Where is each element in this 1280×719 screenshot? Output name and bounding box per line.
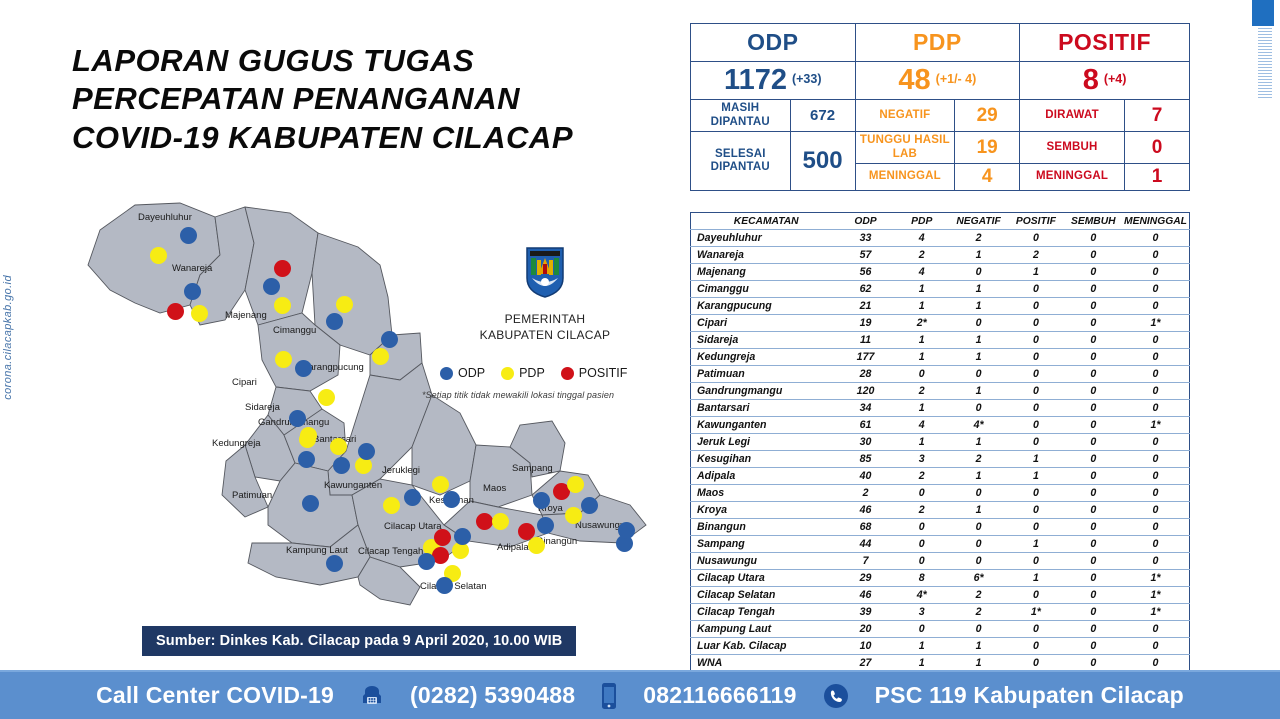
district-table-row: Binangun6800000 <box>691 519 1190 536</box>
summary-value-positif-sembuh: 0 <box>1124 132 1189 164</box>
mobile-phone-icon <box>601 682 617 710</box>
district-value-cell: 0 <box>1065 332 1122 349</box>
district-value-cell: 1* <box>1122 570 1190 587</box>
map-dot-odp <box>443 491 460 508</box>
map-dot-pdp <box>330 438 347 455</box>
district-value-cell: 0 <box>1065 247 1122 264</box>
district-name-cell: Majenang <box>691 264 838 281</box>
map-dot-pdp <box>299 431 316 448</box>
map-dot-odp <box>333 457 350 474</box>
district-value-cell: 0 <box>1122 281 1190 298</box>
legend-item-positif: POSITIF <box>561 366 628 380</box>
district-name-cell: Wanareja <box>691 247 838 264</box>
district-value-cell: 0 <box>1122 298 1190 315</box>
district-value-cell: 4 <box>894 230 950 247</box>
map-dot-odp <box>454 528 471 545</box>
legend-item-pdp: PDP <box>501 366 545 380</box>
district-value-cell: 1* <box>1122 417 1190 434</box>
map-dot-pos <box>274 260 291 277</box>
district-value-cell: 1 <box>894 281 950 298</box>
legend-label: POSITIF <box>579 366 628 380</box>
map-dot-odp <box>302 495 319 512</box>
district-name-cell: Jeruk Legi <box>691 434 838 451</box>
map-dot-pdp <box>372 348 389 365</box>
map-legend: ODPPDPPOSITIF <box>440 366 650 380</box>
district-value-cell: 0 <box>1007 485 1064 502</box>
map-label-kedungreja: Kedungreja <box>212 438 261 449</box>
district-value-cell: 27 <box>837 655 893 672</box>
map-dot-pdp <box>274 297 291 314</box>
district-value-cell: 2 <box>1007 247 1064 264</box>
site-watermark: corona.cilacapkab.go.id <box>2 275 14 400</box>
summary-label-pdp-negatif: NEGATIF <box>855 100 955 132</box>
district-name-cell: Sidareja <box>691 332 838 349</box>
district-name-cell: Kedungreja <box>691 349 838 366</box>
summary-total-positif-cell: 8(+4) <box>1020 62 1190 100</box>
map-dot-pdp <box>528 537 545 554</box>
district-value-cell: 0 <box>894 485 950 502</box>
district-value-cell: 0 <box>1065 383 1122 400</box>
district-value-cell: 1 <box>950 434 1007 451</box>
summary-delta-pdp: (+1/- 4) <box>936 72 977 86</box>
district-name-cell: Karangpucung <box>691 298 838 315</box>
district-value-cell: 3 <box>894 451 950 468</box>
district-value-cell: 1 <box>950 655 1007 672</box>
district-value-cell: 1* <box>1007 604 1064 621</box>
map-label-kampung-laut: Kampung Laut <box>286 545 348 556</box>
district-value-cell: 0 <box>1065 536 1122 553</box>
district-value-cell: 2 <box>894 468 950 485</box>
map-label-cilacap-utara: Cilacap Utara <box>384 521 442 532</box>
district-value-cell: 0 <box>1065 519 1122 536</box>
map-label-majenang: Majenang <box>225 310 267 321</box>
district-value-cell: 0 <box>1065 468 1122 485</box>
district-value-cell: 0 <box>1007 298 1064 315</box>
district-name-cell: Cilacap Tengah <box>691 604 838 621</box>
infographic-page: corona.cilacapkab.go.id LAPORAN GUGUS TU… <box>0 0 1280 719</box>
district-name-cell: Luar Kab. Cilacap <box>691 638 838 655</box>
district-value-cell: 0 <box>1122 264 1190 281</box>
district-value-cell: 0 <box>1007 349 1064 366</box>
district-value-cell: 0 <box>950 485 1007 502</box>
map-label-maos: Maos <box>483 483 506 494</box>
district-name-cell: Adipala <box>691 468 838 485</box>
district-col-header-negatif: NEGATIF <box>950 213 1007 230</box>
district-value-cell: 46 <box>837 502 893 519</box>
district-table-row: Kroya4621000 <box>691 502 1190 519</box>
district-value-cell: 0 <box>894 536 950 553</box>
map-dot-odp <box>581 497 598 514</box>
summary-header-odp: ODP <box>691 24 856 62</box>
map-dot-pdp <box>336 296 353 313</box>
map-dot-odp <box>263 278 280 295</box>
district-table-row: Sampang4400100 <box>691 536 1190 553</box>
summary-header-positif: POSITIF <box>1020 24 1190 62</box>
district-value-cell: 0 <box>1065 400 1122 417</box>
map-dot-odp <box>295 360 312 377</box>
district-value-cell: 0 <box>1065 621 1122 638</box>
district-value-cell: 0 <box>1122 366 1190 383</box>
district-value-cell: 0 <box>1007 230 1064 247</box>
map-label-kawunganten: Kawunganten <box>324 480 382 491</box>
summary-value-positif-meninggal: 1 <box>1124 164 1189 191</box>
district-value-cell: 85 <box>837 451 893 468</box>
district-value-cell: 0 <box>1065 349 1122 366</box>
district-table-row: Adipala4021100 <box>691 468 1190 485</box>
map-dot-pdp <box>567 476 584 493</box>
district-value-cell: 0 <box>1007 332 1064 349</box>
district-value-cell: 0 <box>1065 298 1122 315</box>
district-value-cell: 120 <box>837 383 893 400</box>
district-value-cell: 0 <box>1122 400 1190 417</box>
page-title-line-1: LAPORAN GUGUS TUGAS <box>72 42 692 80</box>
summary-value-pdp-tunggu: 19 <box>955 132 1020 164</box>
district-table: KECAMATANODPPDPNEGATIFPOSITIFSEMBUHMENIN… <box>690 212 1190 689</box>
legend-item-odp: ODP <box>440 366 485 380</box>
district-table-row: Kedungreja17711000 <box>691 349 1190 366</box>
summary-table: ODP PDP POSITIF 1172(+33) 48(+1/- 4) 8(+… <box>690 23 1190 191</box>
summary-total-odp-cell: 1172(+33) <box>691 62 856 100</box>
district-value-cell: 0 <box>950 264 1007 281</box>
district-value-cell: 20 <box>837 621 893 638</box>
district-table-body: Dayeuhluhur3342000Wanareja5721200Majenan… <box>691 230 1190 689</box>
district-name-cell: Patimuan <box>691 366 838 383</box>
source-bar: Sumber: Dinkes Kab. Cilacap pada 9 April… <box>142 626 576 656</box>
district-name-cell: Kawunganten <box>691 417 838 434</box>
summary-total-pdp-cell: 48(+1/- 4) <box>855 62 1020 100</box>
district-name-cell: Cilacap Utara <box>691 570 838 587</box>
district-value-cell: 0 <box>1122 536 1190 553</box>
summary-value-odp-masih: 672 <box>790 100 855 132</box>
district-value-cell: 0 <box>894 366 950 383</box>
district-value-cell: 56 <box>837 264 893 281</box>
district-table-row: Kawunganten6144*001* <box>691 417 1190 434</box>
map-dot-odp <box>436 577 453 594</box>
district-value-cell: 33 <box>837 230 893 247</box>
district-value-cell: 0 <box>1007 383 1064 400</box>
district-value-cell: 0 <box>1007 366 1064 383</box>
map-dot-odp <box>326 313 343 330</box>
map-dot-pdp <box>383 497 400 514</box>
district-value-cell: 0 <box>1122 383 1190 400</box>
summary-label-odp-masih: MASIH DIPANTAU <box>691 100 791 132</box>
district-value-cell: 0 <box>950 366 1007 383</box>
government-line-1: PEMERINTAH <box>455 311 635 327</box>
summary-total-row: 1172(+33) 48(+1/- 4) 8(+4) <box>691 62 1190 100</box>
district-name-cell: Cilacap Selatan <box>691 587 838 604</box>
government-name: PEMERINTAH KABUPATEN CILACAP <box>455 311 635 343</box>
legend-dot-icon <box>501 367 514 380</box>
district-value-cell: 10 <box>837 638 893 655</box>
district-value-cell: 1* <box>1122 587 1190 604</box>
map-dot-odp <box>298 451 315 468</box>
corner-tab-decoration <box>1252 0 1274 26</box>
district-value-cell: 2 <box>894 247 950 264</box>
summary-value-odp-selesai: 500 <box>790 132 855 191</box>
landline-number[interactable]: (0282) 5390488 <box>410 682 575 709</box>
district-value-cell: 0 <box>1065 655 1122 672</box>
district-value-cell: 2 <box>894 502 950 519</box>
district-value-cell: 0 <box>1122 519 1190 536</box>
district-name-cell: Maos <box>691 485 838 502</box>
district-value-cell: 2 <box>950 451 1007 468</box>
district-value-cell: 0 <box>950 621 1007 638</box>
summary-detail-row-2: SELESAI DIPANTAU 500 TUNGGU HASIL LAB 19… <box>691 132 1190 164</box>
district-table-row: Maos200000 <box>691 485 1190 502</box>
district-value-cell: 0 <box>1122 247 1190 264</box>
map-dot-odp <box>533 492 550 509</box>
district-value-cell: 2 <box>950 230 1007 247</box>
district-value-cell: 177 <box>837 349 893 366</box>
district-value-cell: 39 <box>837 604 893 621</box>
district-value-cell: 0 <box>1065 366 1122 383</box>
telephone-icon <box>360 684 384 708</box>
district-value-cell: 21 <box>837 298 893 315</box>
district-col-header-kecamatan: KECAMATAN <box>691 213 838 230</box>
district-name-cell: Sampang <box>691 536 838 553</box>
district-value-cell: 1 <box>950 502 1007 519</box>
district-value-cell: 0 <box>1065 451 1122 468</box>
district-name-cell: Cimanggu <box>691 281 838 298</box>
district-value-cell: 57 <box>837 247 893 264</box>
district-value-cell: 0 <box>1065 281 1122 298</box>
district-table-row: Cilacap Tengah39321*01* <box>691 604 1190 621</box>
district-value-cell: 1 <box>1007 570 1064 587</box>
district-value-cell: 1 <box>894 434 950 451</box>
district-value-cell: 1 <box>950 468 1007 485</box>
district-table-row: Gandrungmangu12021000 <box>691 383 1190 400</box>
district-value-cell: 0 <box>1065 587 1122 604</box>
district-value-cell: 0 <box>894 621 950 638</box>
district-value-cell: 46 <box>837 587 893 604</box>
map-dot-odp <box>404 489 421 506</box>
district-value-cell: 0 <box>1007 281 1064 298</box>
government-line-2: KABUPATEN CILACAP <box>455 327 635 343</box>
summary-label-positif-meninggal: MENINGGAL <box>1020 164 1125 191</box>
map-dot-pdp <box>565 507 582 524</box>
map-label-jeruklegi: Jeruklegi <box>382 465 420 476</box>
district-table-row: Luar Kab. Cilacap1011000 <box>691 638 1190 655</box>
district-value-cell: 4* <box>950 417 1007 434</box>
district-col-header-meninggal: MENINGGAL <box>1122 213 1190 230</box>
summary-detail-row-1: MASIH DIPANTAU 672 NEGATIF 29 DIRAWAT 7 <box>691 100 1190 132</box>
district-value-cell: 0 <box>950 400 1007 417</box>
district-table-row: Jeruk Legi3011000 <box>691 434 1190 451</box>
map-dot-odp <box>537 517 554 534</box>
district-value-cell: 0 <box>1122 502 1190 519</box>
summary-label-pdp-tunggu: TUNGGU HASIL LAB <box>855 132 955 164</box>
district-value-cell: 0 <box>894 553 950 570</box>
district-value-cell: 0 <box>1007 655 1064 672</box>
district-col-header-positif: POSITIF <box>1007 213 1064 230</box>
district-value-cell: 0 <box>1122 451 1190 468</box>
district-value-cell: 0 <box>1007 400 1064 417</box>
map-label-cimanggu: Cimanggu <box>273 325 316 336</box>
district-table-row: Dayeuhluhur3342000 <box>691 230 1190 247</box>
district-value-cell: 1 <box>1007 468 1064 485</box>
district-name-cell: Dayeuhluhur <box>691 230 838 247</box>
district-value-cell: 0 <box>1065 638 1122 655</box>
district-value-cell: 0 <box>1007 434 1064 451</box>
map-label-wanareja: Wanareja <box>172 263 212 274</box>
district-value-cell: 0 <box>1065 553 1122 570</box>
district-table-row: Karangpucung2111000 <box>691 298 1190 315</box>
map-dot-odp <box>326 555 343 572</box>
summary-delta-positif: (+4) <box>1104 72 1127 86</box>
district-value-cell: 6* <box>950 570 1007 587</box>
district-value-cell: 29 <box>837 570 893 587</box>
district-table-row: Cilacap Utara2986*101* <box>691 570 1190 587</box>
district-value-cell: 34 <box>837 400 893 417</box>
summary-delta-odp: (+33) <box>792 72 822 86</box>
district-value-cell: 0 <box>1007 638 1064 655</box>
district-value-cell: 2* <box>894 315 950 332</box>
map-label-sidareja: Sidareja <box>245 402 280 413</box>
district-table-header-row: KECAMATANODPPDPNEGATIFPOSITIFSEMBUHMENIN… <box>691 213 1190 230</box>
district-value-cell: 1 <box>950 247 1007 264</box>
district-value-cell: 0 <box>950 519 1007 536</box>
map-label-cilacap-selatan: Cilacap Selatan <box>420 581 487 592</box>
map-dot-pdp <box>191 305 208 322</box>
mobile-number[interactable]: 082116666119 <box>643 682 796 709</box>
district-value-cell: 0 <box>1065 485 1122 502</box>
district-name-cell: WNA <box>691 655 838 672</box>
district-value-cell: 1 <box>894 332 950 349</box>
district-value-cell: 1 <box>894 349 950 366</box>
legend-label: ODP <box>458 366 485 380</box>
district-value-cell: 0 <box>1122 638 1190 655</box>
district-value-cell: 7 <box>837 553 893 570</box>
district-value-cell: 4 <box>894 417 950 434</box>
district-value-cell: 1 <box>950 281 1007 298</box>
cilacap-crest-icon <box>524 246 566 298</box>
corner-strip-decoration <box>1258 28 1272 98</box>
district-value-cell: 3 <box>894 604 950 621</box>
district-value-cell: 0 <box>1065 417 1122 434</box>
district-value-cell: 28 <box>837 366 893 383</box>
district-value-cell: 0 <box>1065 264 1122 281</box>
district-value-cell: 0 <box>1122 553 1190 570</box>
map-dot-odp <box>618 522 635 539</box>
summary-value-positif-dirawat: 7 <box>1124 100 1189 132</box>
map-dot-pos <box>167 303 184 320</box>
district-value-cell: 0 <box>1122 332 1190 349</box>
district-value-cell: 1 <box>894 638 950 655</box>
page-title: LAPORAN GUGUS TUGAS PERCEPATAN PENANGANA… <box>72 42 692 157</box>
district-value-cell: 0 <box>1122 434 1190 451</box>
district-value-cell: 1 <box>894 298 950 315</box>
district-value-cell: 1 <box>894 400 950 417</box>
district-table-row: Sidareja1111000 <box>691 332 1190 349</box>
map-dot-pdp <box>150 247 167 264</box>
government-logo-block: PEMERINTAH KABUPATEN CILACAP <box>455 246 635 343</box>
district-col-header-sembuh: SEMBUH <box>1065 213 1122 230</box>
district-value-cell: 0 <box>1065 315 1122 332</box>
district-value-cell: 0 <box>950 315 1007 332</box>
district-name-cell: Gandrungmangu <box>691 383 838 400</box>
district-value-cell: 0 <box>1007 553 1064 570</box>
district-value-cell: 1 <box>950 638 1007 655</box>
map-dot-odp <box>381 331 398 348</box>
district-value-cell: 1* <box>1122 604 1190 621</box>
summary-total-positif: 8 <box>1083 64 1099 96</box>
district-value-cell: 0 <box>1065 502 1122 519</box>
summary-total-odp: 1172 <box>724 64 787 96</box>
district-value-cell: 0 <box>894 519 950 536</box>
district-value-cell: 1 <box>950 332 1007 349</box>
district-value-cell: 2 <box>894 383 950 400</box>
district-value-cell: 40 <box>837 468 893 485</box>
psc-label: PSC 119 Kabupaten Cilacap <box>875 682 1184 709</box>
district-value-cell: 0 <box>1065 230 1122 247</box>
map-dot-odp <box>418 553 435 570</box>
district-table-row: Cimanggu6211000 <box>691 281 1190 298</box>
map-label-adipala: Adipala <box>497 542 529 553</box>
district-value-cell: 0 <box>1122 468 1190 485</box>
district-table-row: Kesugihan8532100 <box>691 451 1190 468</box>
footer-contact-bar: Call Center COVID-19 (0282) 5390488 0821… <box>0 670 1280 719</box>
district-value-cell: 2 <box>950 587 1007 604</box>
district-value-cell: 0 <box>1007 417 1064 434</box>
district-name-cell: Bantarsari <box>691 400 838 417</box>
map-dot-pdp <box>275 351 292 368</box>
summary-value-pdp-negatif: 29 <box>955 100 1020 132</box>
legend-dot-icon <box>440 367 453 380</box>
district-value-cell: 4* <box>894 587 950 604</box>
district-table-row: WNA2711000 <box>691 655 1190 672</box>
district-col-header-odp: ODP <box>837 213 893 230</box>
district-value-cell: 8 <box>894 570 950 587</box>
map-label-cipari: Cipari <box>232 377 257 388</box>
district-table-row: Wanareja5721200 <box>691 247 1190 264</box>
district-value-cell: 19 <box>837 315 893 332</box>
map-dot-odp <box>358 443 375 460</box>
district-table-row: Cipari192*0001* <box>691 315 1190 332</box>
district-value-cell: 4 <box>894 264 950 281</box>
map-dot-odp <box>184 283 201 300</box>
map-dot-pdp <box>318 389 335 406</box>
district-value-cell: 0 <box>1007 519 1064 536</box>
map-label-sampang: Sampang <box>512 463 553 474</box>
map-label-cilacap-tengah: Cilacap Tengah <box>358 546 423 557</box>
summary-label-positif-sembuh: SEMBUH <box>1020 132 1125 164</box>
map-dot-odp <box>289 410 306 427</box>
map-dot-odp <box>180 227 197 244</box>
summary-header-pdp: PDP <box>855 24 1020 62</box>
district-value-cell: 0 <box>1065 434 1122 451</box>
summary-label-pdp-meninggal: MENINGGAL <box>855 164 955 191</box>
district-value-cell: 2 <box>950 604 1007 621</box>
map-dot-pos <box>434 529 451 546</box>
district-value-cell: 61 <box>837 417 893 434</box>
district-value-cell: 44 <box>837 536 893 553</box>
district-table-row: Kampung Laut2000000 <box>691 621 1190 638</box>
district-value-cell: 62 <box>837 281 893 298</box>
district-value-cell: 0 <box>1122 349 1190 366</box>
district-value-cell: 1 <box>1007 264 1064 281</box>
district-value-cell: 1 <box>950 349 1007 366</box>
page-title-line-2: PERCEPATAN PENANGANAN <box>72 80 692 118</box>
legend-dot-icon <box>561 367 574 380</box>
district-table-row: Majenang5640100 <box>691 264 1190 281</box>
map-label-patimuan: Patimuan <box>232 490 272 501</box>
district-value-cell: 11 <box>837 332 893 349</box>
phone-handset-icon <box>823 683 849 709</box>
map-dot-pdp <box>492 513 509 530</box>
summary-header-row: ODP PDP POSITIF <box>691 24 1190 62</box>
district-value-cell: 30 <box>837 434 893 451</box>
district-value-cell: 0 <box>1065 570 1122 587</box>
